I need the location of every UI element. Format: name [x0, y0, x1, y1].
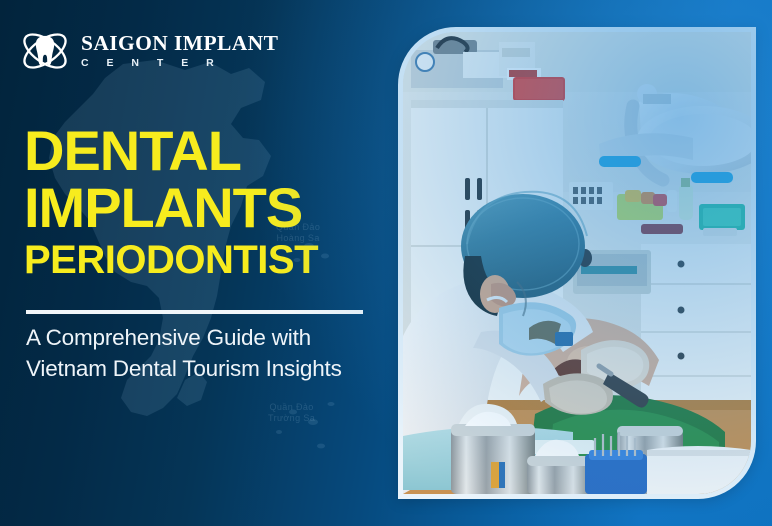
subtitle-block: A Comprehensive Guide with Vietnam Denta… [26, 322, 386, 384]
dental-implants-banner: Quần Đảo Hoàng Sa Quần Đảo Trường Sa SAI… [0, 0, 772, 526]
map-label-spratly-islands: Quần Đảo Trường Sa [268, 402, 315, 424]
headline-line-2: IMPLANTS [24, 179, 384, 237]
headline-divider [26, 310, 363, 314]
brand-logo[interactable]: SAIGON IMPLANT C E N T E R [18, 24, 278, 78]
brand-subtitle: C E N T E R [81, 56, 278, 71]
brand-title: SAIGON IMPLANT [81, 32, 278, 55]
headline-block: DENTAL IMPLANTS PERIODONTIST [24, 122, 384, 283]
subtitle-line-1: A Comprehensive Guide with [26, 322, 386, 353]
headline-line-3: PERIODONTIST [24, 237, 384, 283]
subtitle-line-2: Vietnam Dental Tourism Insights [26, 353, 386, 384]
clinic-photo-frame [398, 27, 756, 499]
clinic-photo [403, 32, 751, 494]
tooth-atom-icon [18, 24, 72, 78]
headline-line-1: DENTAL [24, 122, 384, 179]
